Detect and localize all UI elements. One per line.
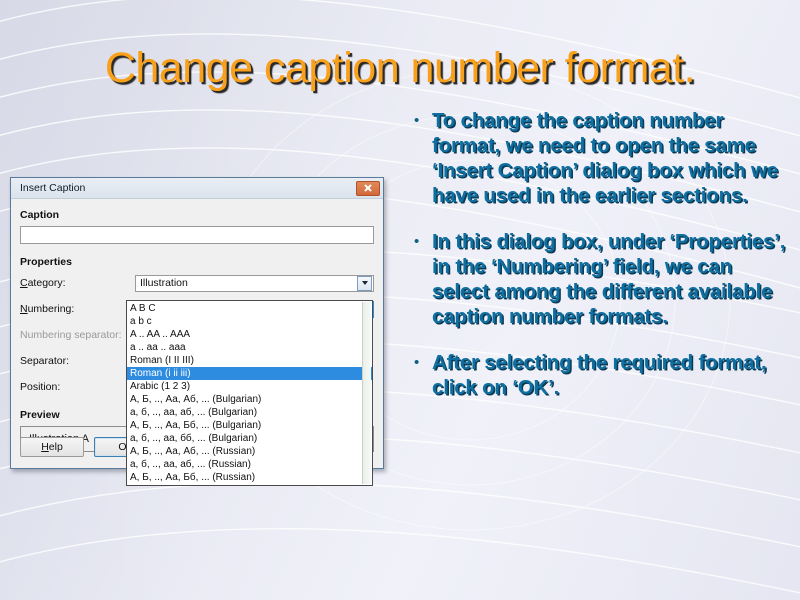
help-button-rest: elp bbox=[49, 441, 63, 453]
bullet-list: • To change the caption number format, w… bbox=[408, 108, 788, 421]
dialog-titlebar[interactable]: Insert Caption bbox=[11, 178, 383, 199]
properties-group-label: Properties bbox=[20, 256, 374, 268]
bullet-text: To change the caption number format, we … bbox=[432, 108, 788, 208]
dialog-title: Insert Caption bbox=[20, 182, 356, 194]
category-label: Category: bbox=[20, 277, 135, 289]
dropdown-item[interactable]: Arabic (1 2 3) bbox=[127, 380, 372, 393]
dropdown-item[interactable]: а, б, .., аа, аб, ... (Russian) bbox=[127, 458, 372, 471]
list-item: • In this dialog box, under ‘Properties’… bbox=[408, 229, 788, 329]
chevron-down-icon[interactable] bbox=[357, 276, 372, 291]
help-button[interactable]: Help bbox=[20, 437, 84, 457]
dropdown-item[interactable]: A .. AA .. AAA bbox=[127, 328, 372, 341]
list-item: • To change the caption number format, w… bbox=[408, 108, 788, 208]
numbering-dropdown-list[interactable]: A B Ca b cA .. AA .. AAAa .. aa .. aaaRo… bbox=[126, 300, 373, 486]
dropdown-item[interactable]: А, Б, .., Аа, Бб, ... (Bulgarian) bbox=[127, 419, 372, 432]
bullet-text: After selecting the required format, cli… bbox=[432, 350, 788, 400]
dropdown-item[interactable]: a .. aa .. aaa bbox=[127, 341, 372, 354]
dropdown-item[interactable]: а, б, .., аа, аб, ... (Bulgarian) bbox=[127, 406, 372, 419]
bullet-marker-icon: • bbox=[408, 229, 432, 255]
dropdown-item[interactable]: а, б, .., аа, бб, ... (Bulgarian) bbox=[127, 432, 372, 445]
numbering-label-rest: umbering: bbox=[28, 303, 75, 315]
dropdown-scrollbar[interactable] bbox=[362, 302, 371, 484]
dropdown-item[interactable]: Roman (I II III) bbox=[127, 354, 372, 367]
numbering-separator-label: Numbering separator: bbox=[20, 329, 135, 341]
position-label: Position: bbox=[20, 381, 135, 393]
list-item: • After selecting the required format, c… bbox=[408, 350, 788, 400]
close-icon[interactable] bbox=[356, 181, 380, 196]
numbering-label: Numbering: bbox=[20, 303, 135, 315]
category-label-rest: ategory: bbox=[28, 277, 66, 289]
dropdown-item[interactable]: Roman (i ii iii) bbox=[127, 367, 372, 380]
dropdown-item[interactable]: a b c bbox=[127, 315, 372, 328]
bullet-marker-icon: • bbox=[408, 108, 432, 134]
bullet-marker-icon: • bbox=[408, 350, 432, 376]
separator-label: Separator: bbox=[20, 355, 135, 367]
dropdown-item[interactable]: А, Б, .., Аа, Аб, ... (Russian) bbox=[127, 445, 372, 458]
caption-group-label: Caption bbox=[20, 209, 374, 221]
category-value: Illustration bbox=[136, 277, 357, 289]
dropdown-item[interactable]: A B C bbox=[127, 302, 372, 315]
category-combobox[interactable]: Illustration bbox=[135, 275, 374, 292]
bullet-text: In this dialog box, under ‘Properties’, … bbox=[432, 229, 788, 329]
dropdown-item[interactable]: А, Б, .., Аа, Аб, ... (Bulgarian) bbox=[127, 393, 372, 406]
caption-input[interactable] bbox=[20, 226, 374, 244]
page-title: Change caption number format. bbox=[0, 44, 800, 93]
category-row: Category: Illustration bbox=[20, 273, 374, 293]
dropdown-item[interactable]: А, Б, .., Аа, Бб, ... (Russian) bbox=[127, 471, 372, 484]
